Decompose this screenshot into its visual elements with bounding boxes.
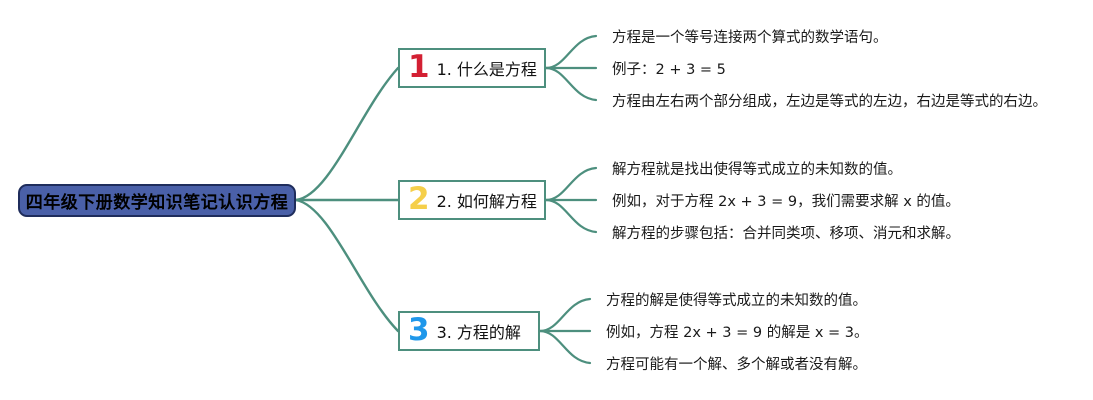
connector-branch-2-leaf-1 [546, 168, 596, 200]
leaf-text-1-1: 方程是一个等号连接两个算式的数学语句。 [612, 31, 888, 46]
leaf-text-2-2: 例如，对于方程 2x + 3 = 9，我们需要求解 x 的值。 [612, 195, 960, 210]
branch-node-3[interactable]: 3 3. 方程的解 [398, 311, 540, 351]
mindmap-canvas: 四年级下册数学知识笔记认识方程 1 1. 什么是方程 2 2. 如何解方程 3 … [0, 0, 1093, 400]
branch-node-2[interactable]: 2 2. 如何解方程 [398, 180, 546, 220]
branch-3-label: 3. 方程的解 [437, 319, 521, 343]
connector-branch-1-leaf-1 [546, 36, 596, 68]
branch-3-number-icon: 3 [408, 315, 430, 346]
connector-root-branch-3 [296, 200, 398, 331]
branch-1-number-icon: 1 [408, 52, 430, 83]
root-node-label: 四年级下册数学知识笔记认识方程 [26, 188, 289, 213]
branch-2-label: 2. 如何解方程 [437, 188, 537, 212]
branch-node-1[interactable]: 1 1. 什么是方程 [398, 48, 546, 88]
root-node[interactable]: 四年级下册数学知识笔记认识方程 [18, 184, 296, 217]
leaf-text-3-2: 例如，方程 2x + 3 = 9 的解是 x = 3。 [606, 326, 869, 341]
branch-2-number-icon: 2 [408, 184, 430, 215]
leaf-text-1-3: 方程由左右两个部分组成，左边是等式的左边，右边是等式的右边。 [612, 95, 1047, 110]
connector-branch-3-leaf-3 [540, 331, 590, 363]
connector-root-branch-1 [296, 68, 398, 200]
leaf-text-3-3: 方程可能有一个解、多个解或者没有解。 [606, 358, 867, 373]
leaf-text-3-1: 方程的解是使得等式成立的未知数的值。 [606, 294, 867, 309]
branch-1-label: 1. 什么是方程 [437, 56, 537, 80]
leaf-text-2-3: 解方程的步骤包括：合并同类项、移项、消元和求解。 [612, 227, 960, 242]
connector-branch-3-leaf-1 [540, 299, 590, 331]
leaf-text-1-2: 例子：2 + 3 = 5 [612, 63, 726, 78]
connector-branch-1-leaf-3 [546, 68, 596, 100]
connector-branch-2-leaf-3 [546, 200, 596, 232]
leaf-text-2-1: 解方程就是找出使得等式成立的未知数的值。 [612, 163, 902, 178]
